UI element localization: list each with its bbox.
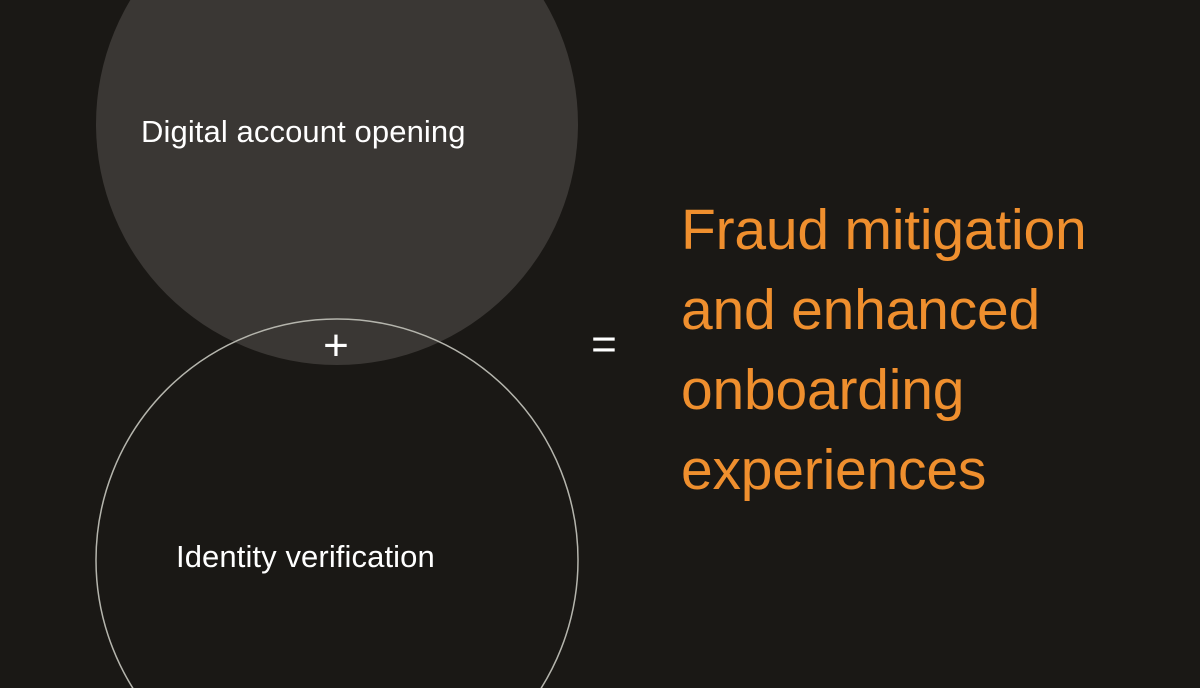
plus-operator-symbol: + bbox=[306, 322, 366, 370]
result-headline-line: and enhanced bbox=[681, 270, 1181, 350]
slide-canvas: Digital account opening Identity verific… bbox=[0, 0, 1200, 688]
result-headline: Fraud mitigation and enhanced onboarding… bbox=[681, 190, 1181, 510]
result-headline-line: Fraud mitigation bbox=[681, 190, 1181, 270]
circle-label-digital-account-opening: Digital account opening bbox=[141, 116, 466, 147]
result-headline-line: onboarding bbox=[681, 350, 1181, 430]
equals-operator-symbol: = bbox=[574, 320, 634, 370]
result-headline-line: experiences bbox=[681, 430, 1181, 510]
circle-identity-verification[interactable] bbox=[96, 319, 578, 688]
circle-label-identity-verification: Identity verification bbox=[176, 541, 435, 572]
circle-digital-account-opening[interactable] bbox=[96, 0, 578, 365]
